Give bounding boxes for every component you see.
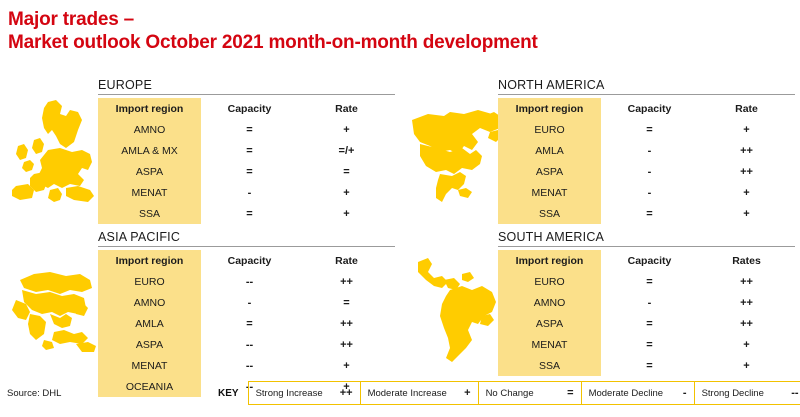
region-divider (498, 94, 795, 95)
key-legend: KEY Strong Increase ++ Moderate Increase… (218, 381, 800, 405)
column-header-rate: Rate (298, 98, 395, 119)
key-item-text: Moderate Increase (368, 388, 447, 399)
table-row: ASPA = = (98, 161, 395, 182)
table-header-row: Import region Capacity Rate (98, 98, 395, 119)
cell-capacity: -- (201, 271, 298, 292)
cell-region: AMNO (498, 292, 601, 313)
cell-region: ASPA (498, 313, 601, 334)
table-europe: Import region Capacity Rate AMNO = + AML… (98, 98, 395, 224)
table-asia-pacific: Import region Capacity Rate EURO -- ++ A… (98, 250, 395, 397)
cell-region: ASPA (98, 334, 201, 355)
column-header-import-region: Import region (98, 98, 201, 119)
table-row: AMLA - ++ (498, 140, 795, 161)
panel-asia-pacific: ASIA PACIFIC Import region Capacity Rate… (0, 230, 400, 380)
cell-capacity: = (201, 203, 298, 224)
table-row: EURO -- ++ (98, 271, 395, 292)
cell-capacity: - (601, 182, 698, 203)
table-row: AMNO = + (98, 119, 395, 140)
column-header-rate: Rate (698, 98, 795, 119)
region-divider (498, 246, 795, 247)
cell-region: AMLA & MX (98, 140, 201, 161)
table-row: MENAT = + (498, 334, 795, 355)
cell-rate: ++ (698, 140, 795, 161)
cell-region: MENAT (498, 182, 601, 203)
cell-capacity: = (601, 203, 698, 224)
cell-rate: + (698, 182, 795, 203)
region-divider (98, 246, 395, 247)
south-america-map-icon (410, 252, 504, 366)
cell-rate: + (298, 203, 395, 224)
page-title: Major trades – Market outlook October 20… (8, 8, 538, 54)
table-row: SSA = + (498, 355, 795, 376)
cell-region: MENAT (498, 334, 601, 355)
column-header-capacity: Capacity (201, 250, 298, 271)
page-title-line1: Major trades – (8, 9, 134, 30)
table-row: MENAT - + (498, 182, 795, 203)
table-south-america: Import region Capacity Rates EURO = ++ A… (498, 250, 795, 376)
cell-region: EURO (98, 271, 201, 292)
table-row: MENAT - + (98, 182, 395, 203)
cell-region: AMNO (98, 292, 201, 313)
asia-pacific-map-icon (4, 256, 98, 356)
table-row: AMLA & MX = =/+ (98, 140, 395, 161)
key-item-no-change: No Change = (479, 382, 582, 404)
table-header-row: Import region Capacity Rates (498, 250, 795, 271)
cell-rate: + (298, 119, 395, 140)
table-row: ASPA - ++ (498, 161, 795, 182)
cell-capacity: - (601, 140, 698, 161)
table-row: MENAT -- + (98, 355, 395, 376)
cell-capacity: = (201, 119, 298, 140)
cell-region: AMLA (98, 313, 201, 334)
cell-rate: + (698, 203, 795, 224)
key-item-strong-decline: Strong Decline -- (695, 382, 800, 404)
cell-region: MENAT (98, 355, 201, 376)
table-row: AMLA = ++ (98, 313, 395, 334)
region-title-europe: EUROPE (98, 78, 395, 94)
key-item-text: No Change (486, 388, 534, 399)
table-north-america: Import region Capacity Rate EURO = + AML… (498, 98, 795, 224)
table-row: SSA = + (498, 203, 795, 224)
cell-capacity: = (601, 313, 698, 334)
cell-region: SSA (98, 203, 201, 224)
cell-rate: + (298, 182, 395, 203)
cell-rate: + (698, 334, 795, 355)
table-row: EURO = ++ (498, 271, 795, 292)
cell-capacity: -- (201, 355, 298, 376)
cell-capacity: - (601, 292, 698, 313)
table-row: ASPA -- ++ (98, 334, 395, 355)
column-header-rate: Rate (298, 250, 395, 271)
cell-capacity: = (601, 119, 698, 140)
cell-rate: ++ (698, 292, 795, 313)
table-row: SSA = + (98, 203, 395, 224)
column-header-capacity: Capacity (601, 250, 698, 271)
cell-region: ASPA (98, 161, 201, 182)
cell-region: ASPA (498, 161, 601, 182)
cell-region: SSA (498, 203, 601, 224)
cell-capacity: = (601, 271, 698, 292)
region-title-south-america: SOUTH AMERICA (498, 230, 795, 246)
key-item-text: Strong Decline (702, 388, 764, 399)
cell-capacity: - (201, 292, 298, 313)
key-item-strong-increase: Strong Increase ++ (249, 382, 361, 404)
page-title-line2: Market outlook October 2021 month-on-mon… (8, 31, 538, 54)
table-row: EURO = + (498, 119, 795, 140)
column-header-capacity: Capacity (601, 98, 698, 119)
region-title-north-america: NORTH AMERICA (498, 78, 795, 94)
cell-rate: = (298, 161, 395, 182)
column-header-import-region: Import region (98, 250, 201, 271)
table-row: AMNO - = (98, 292, 395, 313)
region-title-asia-pacific: ASIA PACIFIC (98, 230, 395, 246)
key-boxes: Strong Increase ++ Moderate Increase + N… (248, 381, 800, 405)
cell-rate: ++ (298, 271, 395, 292)
cell-capacity: - (601, 161, 698, 182)
cell-capacity: = (201, 161, 298, 182)
cell-rate: ++ (698, 271, 795, 292)
key-item-moderate-decline: Moderate Decline - (582, 382, 695, 404)
key-item-text: Moderate Decline (589, 388, 663, 399)
cell-rate: = (298, 292, 395, 313)
panel-north-america: NORTH AMERICA Import region Capacity Rat… (400, 78, 800, 228)
cell-region: OCEANIA (98, 376, 201, 397)
cell-region: EURO (498, 119, 601, 140)
cell-rate: + (298, 355, 395, 376)
cell-region: AMLA (498, 140, 601, 161)
cell-region: MENAT (98, 182, 201, 203)
cell-region: SSA (498, 355, 601, 376)
cell-capacity: - (201, 182, 298, 203)
cell-rate: ++ (298, 334, 395, 355)
key-item-symbol: - (683, 387, 687, 399)
cell-rate: =/+ (298, 140, 395, 161)
source-note: Source: DHL (7, 388, 61, 399)
cell-rate: + (698, 119, 795, 140)
europe-map-icon (4, 100, 96, 204)
cell-capacity: = (601, 334, 698, 355)
key-label: KEY (218, 388, 239, 399)
table-row: AMNO - ++ (498, 292, 795, 313)
key-item-moderate-increase: Moderate Increase + (361, 382, 479, 404)
cell-region: AMNO (98, 119, 201, 140)
panel-south-america: SOUTH AMERICA Import region Capacity Rat… (400, 230, 800, 380)
north-america-map-icon (406, 98, 506, 208)
cell-rate: ++ (298, 313, 395, 334)
cell-rate: + (698, 355, 795, 376)
column-header-import-region: Import region (498, 250, 601, 271)
table-header-row: Import region Capacity Rate (98, 250, 395, 271)
cell-rate: ++ (698, 313, 795, 334)
key-item-symbol: -- (791, 387, 798, 399)
region-divider (98, 94, 395, 95)
key-item-symbol: = (567, 387, 573, 399)
column-header-capacity: Capacity (201, 98, 298, 119)
cell-capacity: = (601, 355, 698, 376)
key-item-symbol: ++ (340, 387, 353, 399)
key-item-text: Strong Increase (256, 388, 323, 399)
table-header-row: Import region Capacity Rate (498, 98, 795, 119)
panel-europe: EUROPE Import region Capacity Rate AMNO … (0, 78, 400, 228)
cell-capacity: -- (201, 334, 298, 355)
cell-capacity: = (201, 140, 298, 161)
cell-rate: ++ (698, 161, 795, 182)
key-item-symbol: + (464, 387, 470, 399)
column-header-rates: Rates (698, 250, 795, 271)
table-row: ASPA = ++ (498, 313, 795, 334)
cell-capacity: = (201, 313, 298, 334)
column-header-import-region: Import region (498, 98, 601, 119)
cell-region: EURO (498, 271, 601, 292)
